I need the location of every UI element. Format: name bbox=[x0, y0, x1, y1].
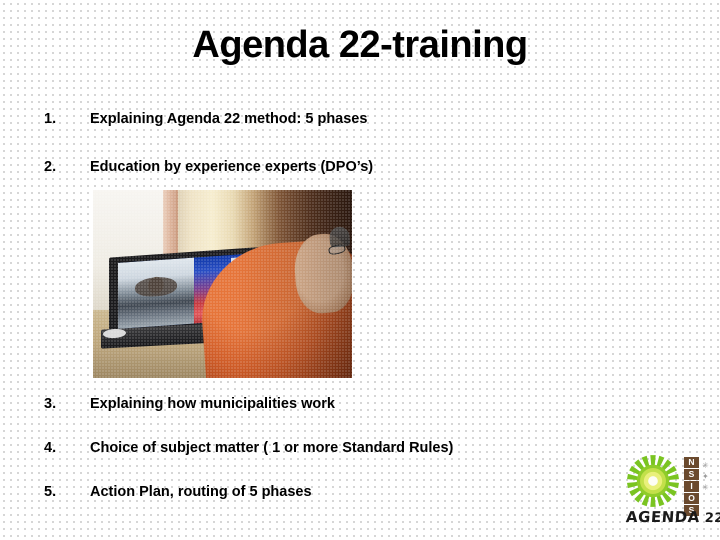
slide-photo bbox=[93, 190, 352, 378]
photo-scene bbox=[93, 190, 352, 378]
list-item: 1. Explaining Agenda 22 method: 5 phases bbox=[44, 111, 367, 127]
nsios-letter-i: I bbox=[684, 481, 699, 492]
list-item-number: 4. bbox=[44, 440, 90, 456]
list-item-label: Education by experience experts (DPO’s) bbox=[90, 159, 373, 175]
list-item-number: 2. bbox=[44, 159, 90, 175]
logo-sparkle-icons: ✳ ✦ ✳ bbox=[702, 460, 716, 500]
sunburst-flower-icon bbox=[626, 454, 680, 508]
photo-screen-portrait bbox=[118, 257, 194, 328]
list-item-label: Explaining how municipalities work bbox=[90, 396, 335, 412]
slide-canvas: Agenda 22-training 1. Explaining Agenda … bbox=[0, 0, 720, 540]
sparkle-icon: ✳ bbox=[702, 460, 716, 471]
list-item: 2. Education by experience experts (DPO’… bbox=[44, 159, 373, 175]
logo-wordmark: AGENDA 22 bbox=[625, 508, 720, 526]
nsios-letter-n: N bbox=[684, 457, 699, 468]
logo-wordmark-text: AGENDA bbox=[625, 508, 700, 526]
nsios-letter-o: O bbox=[684, 493, 699, 504]
list-item-number: 5. bbox=[44, 484, 90, 500]
list-item-label: Choice of subject matter ( 1 or more Sta… bbox=[90, 440, 453, 456]
list-item-number: 1. bbox=[44, 111, 90, 127]
list-item-label: Explaining Agenda 22 method: 5 phases bbox=[90, 111, 367, 127]
sparkle-icon: ✦ bbox=[702, 471, 716, 482]
nsios-agenda22-logo: N S I O S ✳ ✦ ✳ AGENDA 22 bbox=[620, 452, 716, 536]
sparkle-icon: ✳ bbox=[702, 482, 716, 493]
list-item-number: 3. bbox=[44, 396, 90, 412]
list-item: 3. Explaining how municipalities work bbox=[44, 396, 335, 412]
nsios-letter-s1: S bbox=[684, 469, 699, 480]
list-item: 4. Choice of subject matter ( 1 or more … bbox=[44, 440, 453, 456]
list-item-label: Action Plan, routing of 5 phases bbox=[90, 484, 312, 500]
photo-person-head bbox=[293, 232, 352, 315]
logo-wordmark-number: 22 bbox=[699, 511, 720, 526]
list-item: 5. Action Plan, routing of 5 phases bbox=[44, 484, 312, 500]
